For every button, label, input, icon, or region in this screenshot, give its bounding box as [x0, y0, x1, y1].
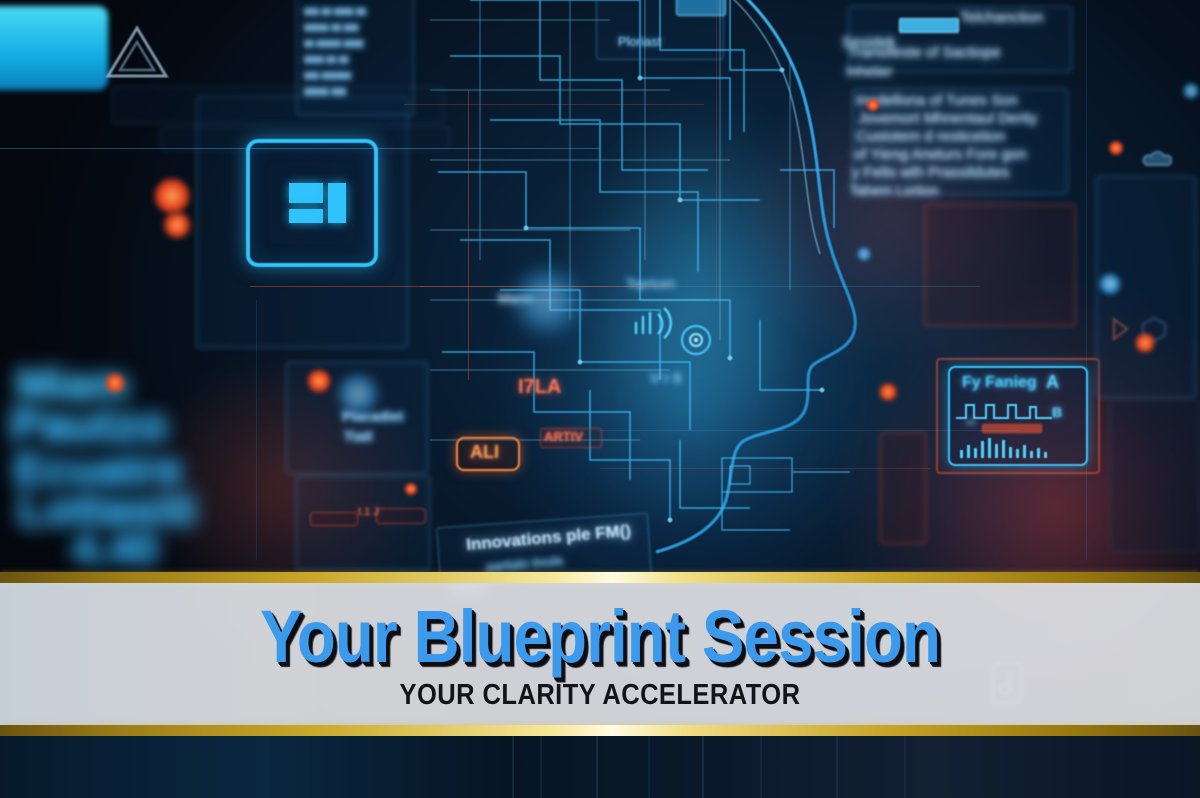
hud-label-vr6: V r 6 — [650, 370, 682, 387]
title-banner: Your Blueprint Session YOUR CLARITY ACCE… — [0, 572, 1200, 736]
hud-panel-far-right-2 — [1110, 400, 1200, 552]
hud-chip-red-1 — [310, 512, 358, 526]
hud-text-r1: Telchanction — [960, 9, 1043, 26]
hud-chip-red-2 — [376, 508, 426, 524]
hud-label-artiv: ARTIV — [544, 429, 583, 444]
banner-graphic: Miam Pautzo Ecuatre Lottasiti 4.40 ▮▮▮ ▮… — [0, 0, 1200, 798]
page-title: Your Blueprint Session — [84, 600, 1116, 674]
hud-panel-red-tall — [880, 432, 926, 544]
chart-axis-label-a: A — [1046, 372, 1059, 393]
hud-panel-red-right — [924, 204, 1076, 326]
hud-label-ali: ALI — [470, 442, 499, 463]
dashboard-tile-b — [289, 209, 323, 223]
hud-label-i7la: I7LA — [518, 376, 561, 399]
hud-label-tiatl: Tiatl — [344, 428, 373, 444]
dashboard-tile-a — [289, 183, 323, 203]
chart-axis-label-b: B — [1052, 404, 1062, 420]
gold-border-top — [0, 572, 1200, 583]
cyan-plate — [0, 6, 108, 90]
hud-label-topricen: Topricen — [626, 276, 675, 291]
gold-border-bottom — [0, 725, 1200, 736]
page-subtitle: YOUR CLARITY ACCELERATOR — [72, 681, 1128, 710]
target-ring-icon — [678, 322, 714, 358]
banner-body: Your Blueprint Session YOUR CLARITY ACCE… — [0, 583, 1200, 725]
chart-waveform — [956, 398, 1052, 420]
cloud-icon — [1142, 148, 1172, 170]
chart-progress-bar — [982, 424, 1042, 433]
dashboard-layout-icon — [246, 139, 378, 267]
chart-widget-label: Fy Fanieg — [962, 374, 1037, 392]
dashboard-tile-c — [328, 183, 346, 223]
signal-wave-icon — [630, 304, 674, 342]
hud-glow-text-5: 4.40 — [72, 524, 158, 574]
chart-bars — [958, 436, 1052, 458]
triangle-warning-icon — [104, 24, 170, 80]
bottom-tech-strip — [0, 736, 1200, 798]
